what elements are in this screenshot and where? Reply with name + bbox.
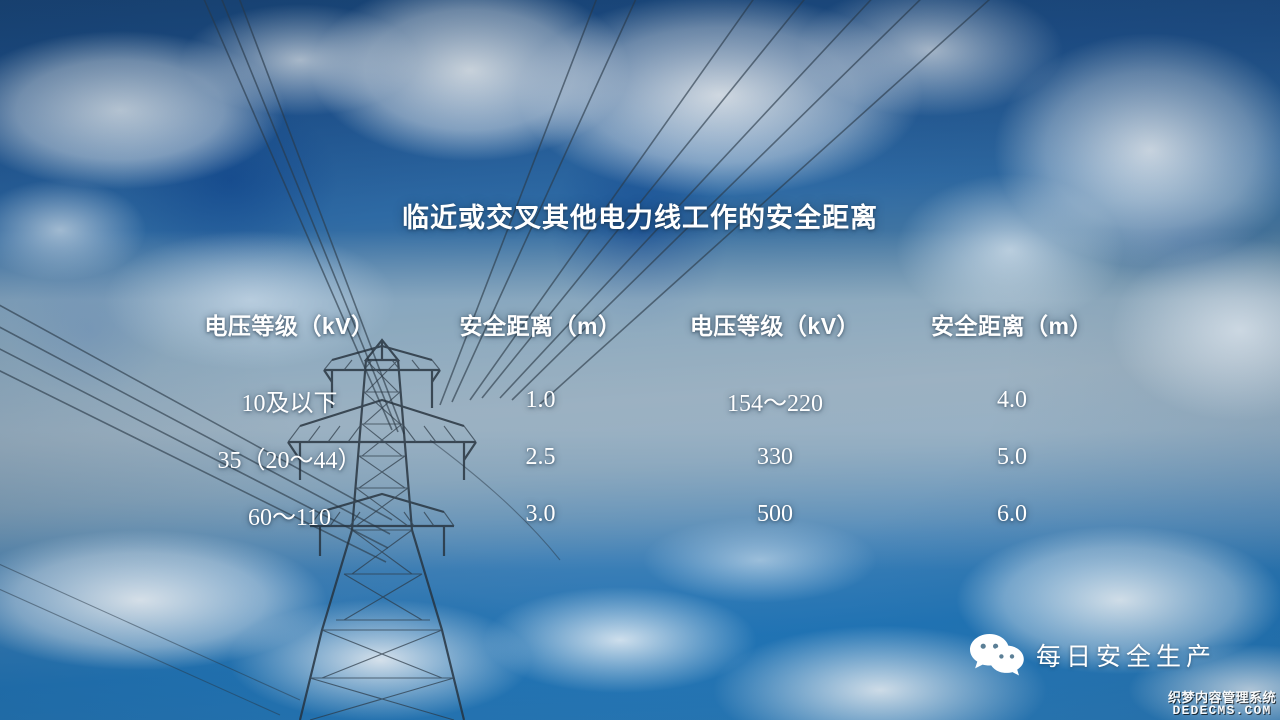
cms-watermark: 织梦内容管理系统 DEDECMS.COM: [1168, 691, 1276, 718]
wechat-icon: [968, 632, 1026, 678]
presentation-slide: 临近或交叉其他电力线工作的安全距离 电压等级（kV） 安全距离（m） 电压等级（…: [0, 0, 1280, 720]
cell-distance-right: 5.0: [896, 429, 1128, 486]
table-row: 60～110 3.0 500 6.0: [152, 486, 1128, 543]
cell-distance-left: 1.0: [427, 372, 654, 429]
cell-voltage-left: 10及以下: [152, 372, 427, 429]
column-header-voltage-left: 电压等级（kV）: [152, 276, 427, 372]
wechat-brand-lockup: 每日安全生产: [968, 632, 1216, 678]
slide-content: 临近或交叉其他电力线工作的安全距离 电压等级（kV） 安全距离（m） 电压等级（…: [0, 0, 1280, 720]
slide-title: 临近或交叉其他电力线工作的安全距离: [0, 196, 1280, 235]
column-header-distance-left: 安全距离（m）: [427, 276, 654, 372]
cell-voltage-left: 60～110: [152, 486, 427, 543]
cell-distance-left: 3.0: [427, 486, 654, 543]
brand-name: 每日安全生产: [1036, 637, 1216, 673]
cell-distance-right: 6.0: [896, 486, 1128, 543]
watermark-chinese: 织梦内容管理系统: [1168, 691, 1276, 705]
cell-voltage-right: 154～220: [654, 372, 896, 429]
table-row: 10及以下 1.0 154～220 4.0: [152, 372, 1128, 429]
cell-distance-right: 4.0: [896, 372, 1128, 429]
cell-voltage-right: 330: [654, 429, 896, 486]
table-header-row: 电压等级（kV） 安全距离（m） 电压等级（kV） 安全距离（m）: [152, 276, 1128, 372]
column-header-voltage-right: 电压等级（kV）: [654, 276, 896, 372]
safety-distance-table: 电压等级（kV） 安全距离（m） 电压等级（kV） 安全距离（m） 10及以下 …: [152, 276, 1128, 543]
cell-distance-left: 2.5: [427, 429, 654, 486]
cell-voltage-right: 500: [654, 486, 896, 543]
cell-voltage-left: 35（20～44）: [152, 429, 427, 486]
table-row: 35（20～44） 2.5 330 5.0: [152, 429, 1128, 486]
watermark-english: DEDECMS.COM: [1168, 704, 1276, 718]
column-header-distance-right: 安全距离（m）: [896, 276, 1128, 372]
